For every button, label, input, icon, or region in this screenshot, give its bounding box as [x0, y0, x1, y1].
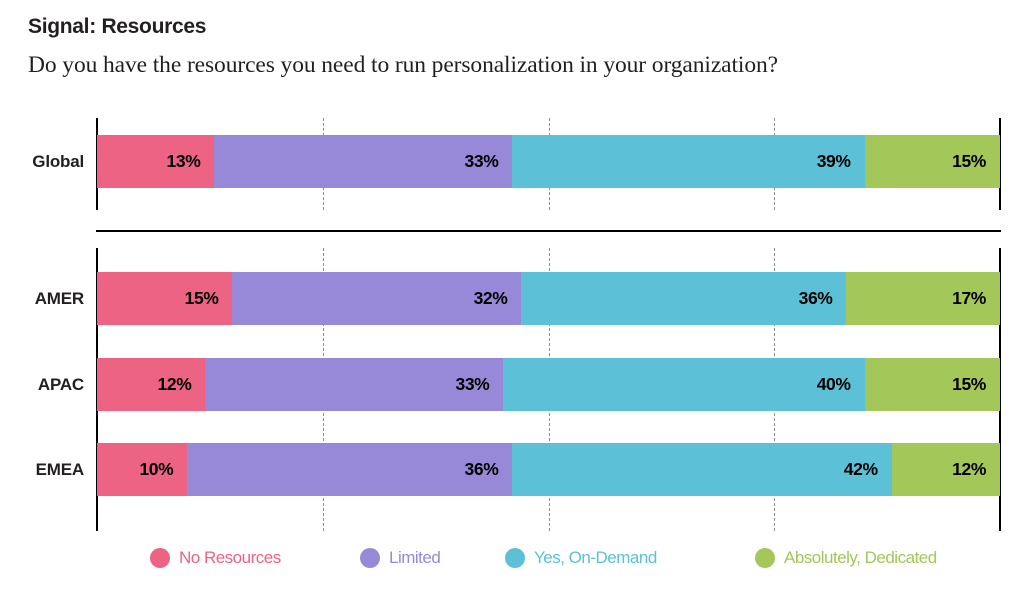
legend-item[interactable]: Limited	[360, 548, 440, 568]
bar-segment-value: 12%	[158, 374, 192, 395]
bar-track: 12%33%40%15%	[97, 358, 1000, 411]
bar-segment[interactable]: 32%	[232, 272, 521, 325]
bar-segment[interactable]: 15%	[865, 358, 1000, 411]
bar-segment-value: 17%	[952, 288, 986, 309]
bar-segment[interactable]: 40%	[503, 358, 864, 411]
bar-segment[interactable]: 13%	[97, 135, 214, 188]
bar-segment-value: 39%	[817, 151, 851, 172]
bar-segment[interactable]: 33%	[214, 135, 512, 188]
bar-segment[interactable]: 33%	[205, 358, 503, 411]
bar-row-label-global: Global	[0, 135, 84, 188]
bar-row[interactable]: APAC12%33%40%15%	[0, 358, 1024, 411]
bar-segment[interactable]: 12%	[892, 443, 1000, 496]
bar-segment[interactable]: 10%	[97, 443, 187, 496]
bar-segment-value: 12%	[952, 459, 986, 480]
bar-segment-value: 32%	[474, 288, 508, 309]
legend-swatch-icon	[150, 548, 170, 568]
bar-segment[interactable]: 15%	[97, 272, 232, 325]
bar-row[interactable]: Global13%33%39%15%	[0, 135, 1024, 188]
legend-item-label: No Resources	[179, 548, 281, 568]
legend-item[interactable]: No Resources	[150, 548, 281, 568]
legend-item-label: Yes, On-Demand	[534, 548, 657, 568]
bar-segment-value: 40%	[817, 374, 851, 395]
bar-segment[interactable]: 12%	[97, 358, 205, 411]
bar-segment[interactable]: 36%	[521, 272, 846, 325]
legend-item-label: Absolutely, Dedicated	[784, 548, 937, 568]
chart-legend: No ResourcesLimitedYes, On-DemandAbsolut…	[150, 540, 1010, 576]
legend-swatch-icon	[505, 548, 525, 568]
bar-segment[interactable]: 17%	[846, 272, 1000, 325]
bar-segment-value: 10%	[139, 459, 173, 480]
legend-swatch-icon	[755, 548, 775, 568]
bar-segment[interactable]: 36%	[187, 443, 512, 496]
bar-segment-value: 36%	[799, 288, 833, 309]
bar-track: 15%32%36%17%	[97, 272, 1000, 325]
bar-segment[interactable]: 39%	[512, 135, 864, 188]
bar-segment-value: 15%	[185, 288, 219, 309]
bar-row-label-emea: EMEA	[0, 443, 84, 496]
legend-swatch-icon	[360, 548, 380, 568]
bar-segment[interactable]: 42%	[512, 443, 891, 496]
legend-item[interactable]: Absolutely, Dedicated	[755, 548, 937, 568]
bar-segment[interactable]: 15%	[865, 135, 1000, 188]
bar-row-label-amer: AMER	[0, 272, 84, 325]
bar-segment-value: 36%	[465, 459, 499, 480]
bar-segment-value: 15%	[952, 151, 986, 172]
bar-segment-value: 15%	[952, 374, 986, 395]
legend-item[interactable]: Yes, On-Demand	[505, 548, 657, 568]
bar-row[interactable]: AMER15%32%36%17%	[0, 272, 1024, 325]
bar-track: 13%33%39%15%	[97, 135, 1000, 188]
bar-row[interactable]: EMEA10%36%42%12%	[0, 443, 1024, 496]
bar-segment-value: 33%	[465, 151, 499, 172]
bar-segment-value: 13%	[167, 151, 201, 172]
bar-row-label-apac: APAC	[0, 358, 84, 411]
stacked-bar-chart: Global13%33%39%15% AMER15%32%36%17%APAC1…	[0, 0, 1024, 595]
bar-track: 10%36%42%12%	[97, 443, 1000, 496]
bar-segment-value: 33%	[456, 374, 490, 395]
legend-item-label: Limited	[389, 548, 440, 568]
bar-segment-value: 42%	[844, 459, 878, 480]
panel-divider	[96, 230, 1001, 232]
